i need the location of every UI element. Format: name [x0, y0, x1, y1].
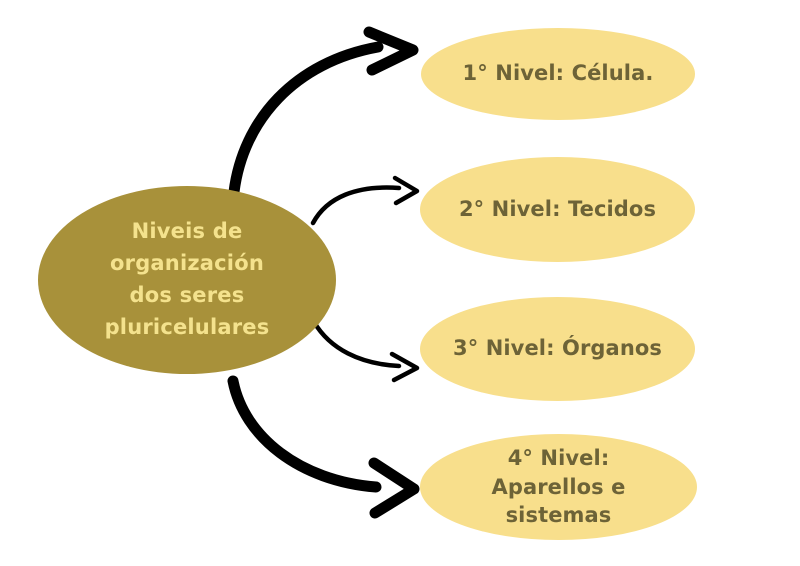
- node-nivel-1[interactable]: 1° Nivel: Célula.: [421, 28, 695, 120]
- connector-arrow-to-nivel-1: [234, 32, 413, 192]
- connector-arrow-to-nivel-3: [314, 322, 417, 380]
- node-nivel-3-label: 3° Nivel: Órganos: [437, 335, 678, 363]
- node-nivel-3[interactable]: 3° Nivel: Órganos: [420, 297, 695, 401]
- node-nivel-2[interactable]: 2° Nivel: Tecidos: [420, 157, 695, 262]
- connector-arrow-to-nivel-2: [313, 178, 417, 223]
- node-nivel-1-label: 1° Nivel: Célula.: [447, 60, 670, 88]
- root-node-label: Niveis de organización dos seres plurice…: [105, 216, 270, 344]
- node-nivel-4[interactable]: 4° Nivel: Aparellos e sistemas: [420, 434, 697, 540]
- node-nivel-4-label: 4° Nivel: Aparellos e sistemas: [420, 444, 697, 531]
- diagram-canvas: Niveis de organización dos seres plurice…: [0, 0, 800, 566]
- node-nivel-2-label: 2° Nivel: Tecidos: [443, 196, 672, 224]
- connector-arrow-to-nivel-4: [233, 381, 414, 513]
- root-node-niveis-organizacion[interactable]: Niveis de organización dos seres plurice…: [38, 186, 336, 374]
